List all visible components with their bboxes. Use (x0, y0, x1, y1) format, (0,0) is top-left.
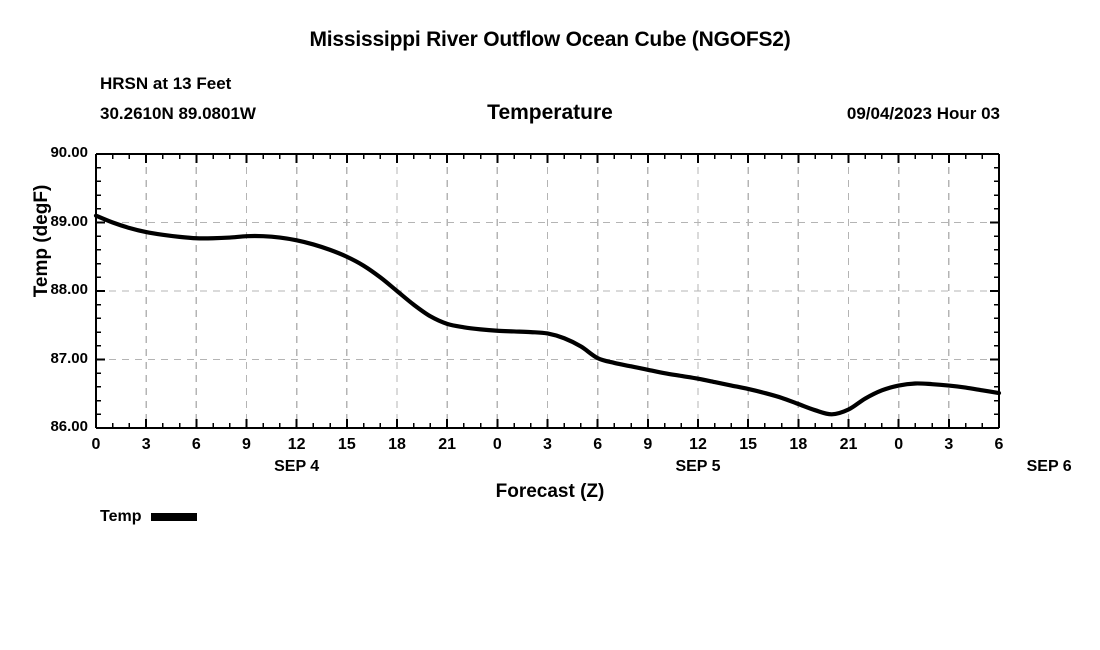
x-axis-tick-label: 3 (126, 436, 166, 454)
x-axis-tick-label: 6 (979, 436, 1019, 454)
legend-label: Temp (100, 508, 141, 526)
x-axis-tick-label: 0 (477, 436, 517, 454)
x-axis-day-label: SEP 6 (989, 458, 1100, 476)
x-axis-tick-label: 9 (628, 436, 668, 454)
x-axis-title: Forecast (Z) (0, 481, 1100, 503)
x-axis-tick-label: 6 (578, 436, 618, 454)
x-axis-tick-label: 21 (427, 436, 467, 454)
x-axis-tick-label: 6 (176, 436, 216, 454)
x-axis-tick-label: 12 (277, 436, 317, 454)
x-axis-tick-label: 3 (528, 436, 568, 454)
x-axis-tick-label: 0 (76, 436, 116, 454)
x-axis-tick-label: 0 (879, 436, 919, 454)
x-axis-tick-label: 18 (377, 436, 417, 454)
x-axis-tick-label: 15 (327, 436, 367, 454)
x-axis-tick-label: 3 (929, 436, 969, 454)
x-axis-tick-label: 15 (728, 436, 768, 454)
x-axis-day-label: SEP 5 (638, 458, 758, 476)
x-axis-tick-label: 12 (678, 436, 718, 454)
x-axis-tick-label: 21 (829, 436, 869, 454)
legend: Temp (100, 508, 197, 526)
legend-color-swatch (151, 513, 197, 521)
x-axis-day-label: SEP 4 (237, 458, 357, 476)
x-axis-tick-label: 18 (778, 436, 818, 454)
x-axis-tick-labels: 036912151821036912151821036SEP 4SEP 5SEP… (0, 0, 1100, 650)
x-axis-tick-label: 9 (227, 436, 267, 454)
